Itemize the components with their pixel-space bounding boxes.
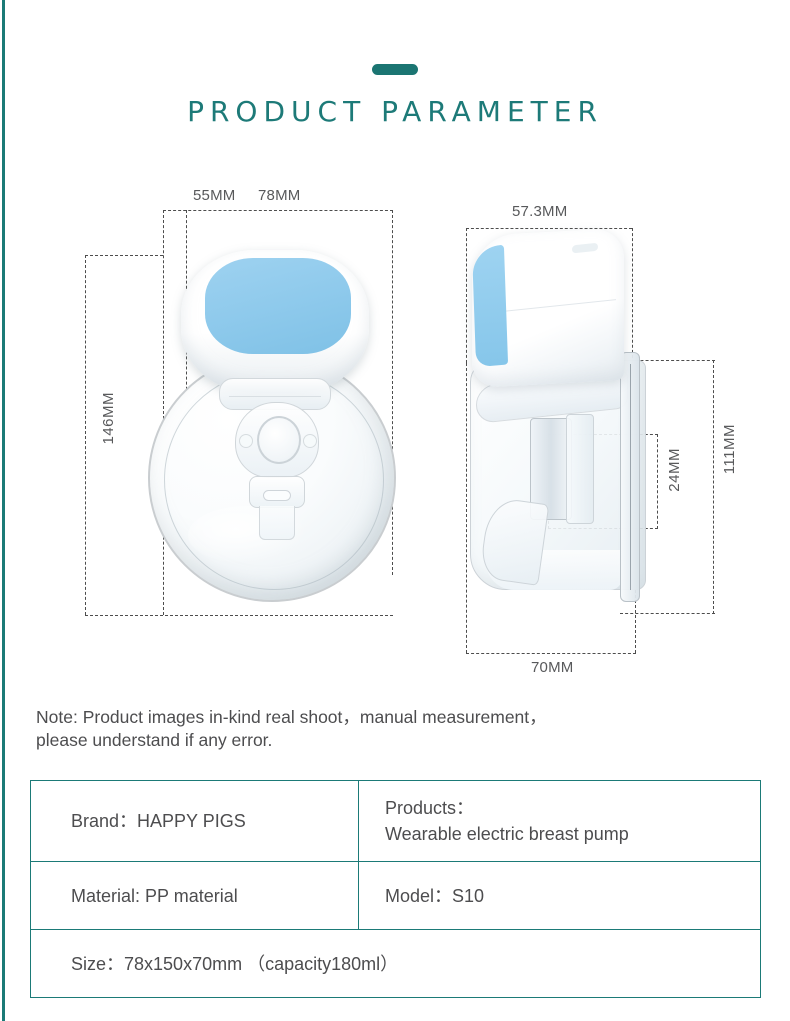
product-parameter-page: PRODUCT PARAMETER 55MM 78MM 146MM 57.3MM…: [0, 0, 790, 1021]
side-guide-h-111-bottom: [620, 613, 715, 614]
disclaimer-note-line-1: Note: Product images in-kind real shoot，…: [36, 706, 736, 729]
inner-column-secondary: [566, 414, 594, 524]
side-dim-573mm: 57.3MM: [512, 203, 567, 220]
product-image-front-view: [139, 250, 391, 620]
valve-nub-left: [239, 434, 253, 448]
table-row: Brand：HAPPY PIGS Products： Wearable elec…: [31, 781, 761, 862]
valve-stem-slot: [263, 490, 291, 501]
page-title: PRODUCT PARAMETER: [0, 95, 790, 128]
collar-ring-line: [229, 396, 321, 397]
side-dim-24mm: 24MM: [666, 448, 683, 492]
product-figures: 55MM 78MM 146MM 57.3MM 70MM 24MM 111MM: [0, 170, 790, 690]
specification-table: Brand：HAPPY PIGS Products： Wearable elec…: [30, 780, 761, 998]
front-guide-h-top-span: [163, 210, 393, 211]
valve-ring: [257, 416, 301, 464]
front-guide-v-78-end: [392, 210, 393, 575]
side-dim-111mm: 111MM: [721, 424, 738, 474]
disclaimer-note-line-2: please understand if any error.: [36, 729, 736, 752]
front-dim-78mm: 78MM: [258, 187, 300, 204]
cell-brand-line-1: Brand：HAPPY PIGS: [71, 808, 358, 834]
cell-brand: Brand：HAPPY PIGS: [31, 781, 359, 862]
side-dim-70mm: 70MM: [531, 659, 573, 676]
flange-cup-rim-line: [630, 364, 631, 590]
motor-housing-top-dimple: [572, 243, 598, 254]
cell-material: Material: PP material: [31, 862, 359, 930]
motor-housing-side-seam: [488, 299, 616, 313]
side-guide-v-bottom-left: [466, 363, 467, 653]
cell-products-line-2: Wearable electric breast pump: [385, 821, 760, 847]
cell-size: Size：78x150x70mm （capacity180ml）: [31, 930, 761, 998]
accent-bar: [372, 64, 418, 75]
cell-material-line-1: Material: PP material: [71, 883, 358, 909]
cell-model: Model：S10: [359, 862, 761, 930]
side-guide-v-111: [713, 360, 714, 614]
motor-blue-edge-side: [472, 245, 508, 368]
cell-size-line-1: Size：78x150x70mm （capacity180ml）: [71, 951, 760, 977]
cell-products: Products： Wearable electric breast pump: [359, 781, 761, 862]
front-dim-55mm: 55MM: [193, 187, 235, 204]
front-guide-v-left-outer: [85, 255, 86, 615]
side-guide-v-left-top: [466, 228, 467, 363]
cell-products-line-1: Products：: [385, 795, 760, 821]
disclaimer-note: Note: Product images in-kind real shoot，…: [36, 706, 736, 752]
table-row: Material: PP material Model：S10: [31, 862, 761, 930]
side-guide-h-70: [466, 653, 636, 654]
page-header: PRODUCT PARAMETER: [0, 0, 790, 128]
valve-stem-lower: [259, 506, 295, 540]
side-guide-h-573: [466, 228, 632, 229]
valve-nub-right: [303, 434, 317, 448]
front-dim-146mm: 146MM: [100, 392, 117, 445]
cell-model-line-1: Model：S10: [385, 883, 760, 909]
product-image-side-view: [470, 232, 660, 604]
motor-blue-faceplate: [205, 258, 351, 354]
table-row: Size：78x150x70mm （capacity180ml）: [31, 930, 761, 998]
